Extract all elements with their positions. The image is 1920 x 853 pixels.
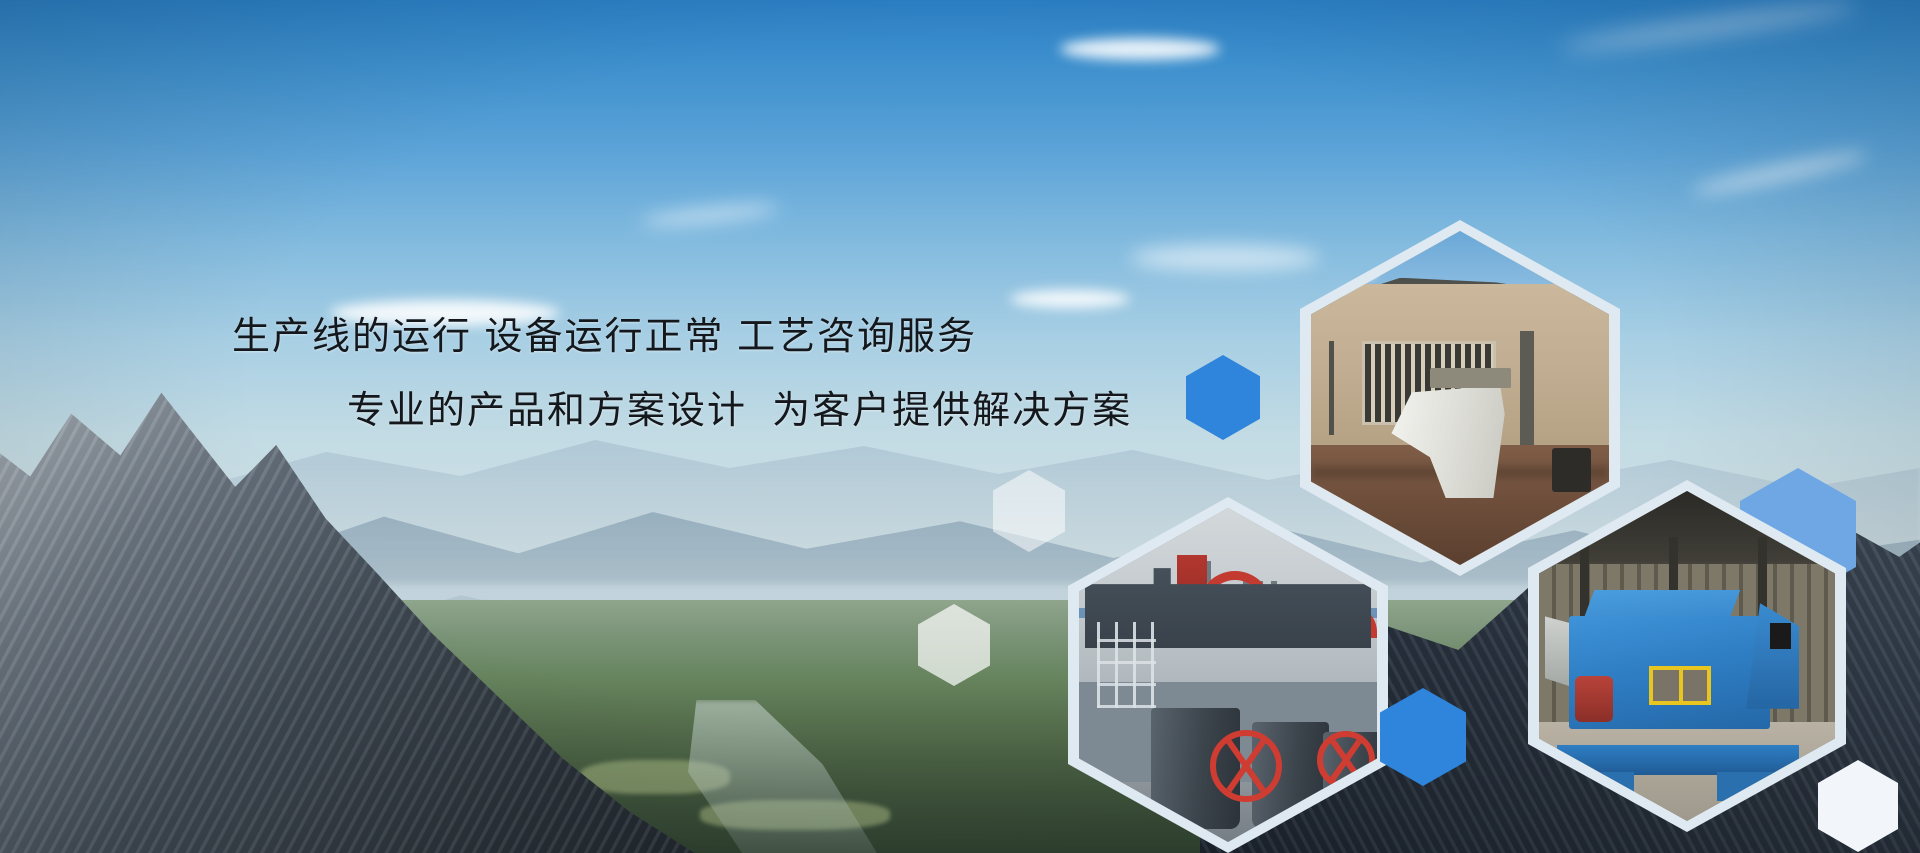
- headline-line-1: 生产线的运行 设备运行正常 工艺咨询服务: [232, 318, 1160, 356]
- cloud-3: [1130, 245, 1320, 271]
- red-handwheel-1: [1210, 730, 1282, 802]
- hex-photo-right-image: [1539, 491, 1835, 821]
- cloud-1: [1060, 38, 1220, 60]
- headline-line-2: 专业的产品和方案设计 为客户提供解决方案: [347, 392, 1160, 430]
- photo-white-machine: [1311, 231, 1609, 565]
- hex-photo-middle-image: [1079, 508, 1377, 842]
- photo-grey-equipment: [1079, 508, 1377, 842]
- hero-banner: 生产线的运行 设备运行正常 工艺咨询服务 专业的产品和方案设计 为客户提供解决方…: [0, 0, 1920, 853]
- cloud-10: [1010, 290, 1130, 308]
- photo-blue-shredder: [1539, 491, 1835, 821]
- hex-photo-top-image: [1311, 231, 1609, 565]
- headline-block: 生产线的运行 设备运行正常 工艺咨询服务 专业的产品和方案设计 为客户提供解决方…: [0, 318, 1160, 430]
